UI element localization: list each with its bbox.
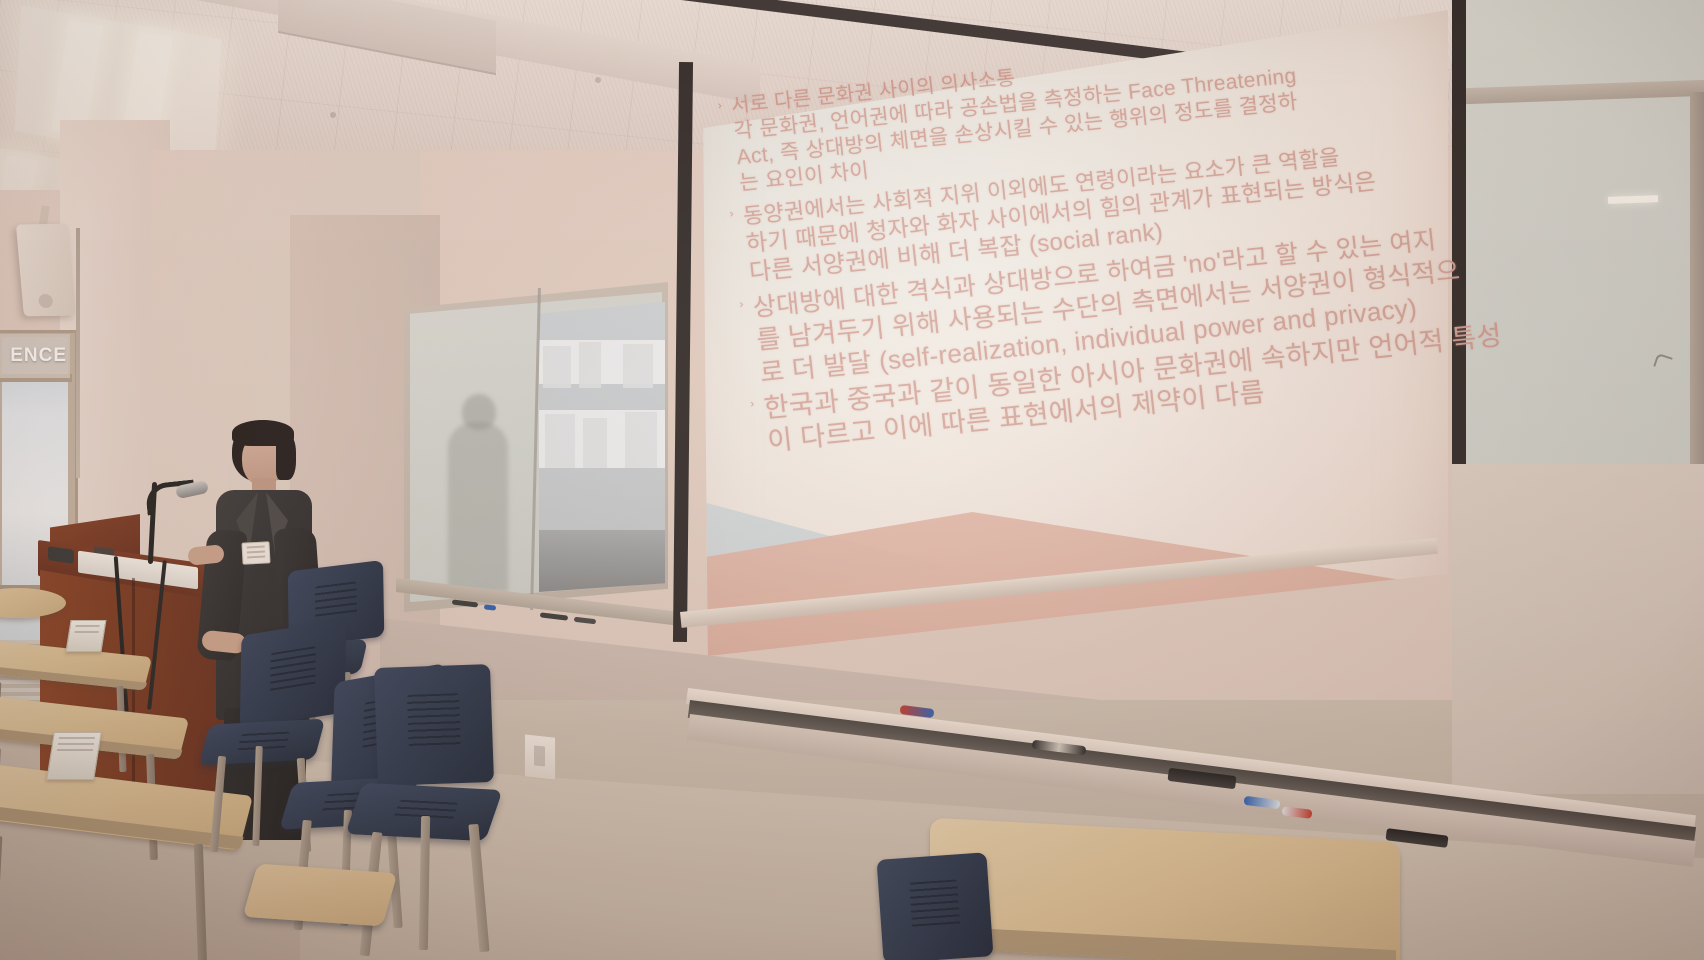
right-wall-lower [1452, 464, 1704, 794]
whiteboard-window-reflection [539, 302, 665, 592]
chair-vent-slots [237, 732, 290, 751]
chair-backrest [877, 852, 994, 960]
reflection-building [583, 418, 607, 468]
badge-text-line [247, 551, 265, 554]
wall-power-outlet[interactable] [524, 733, 556, 780]
conference-banner: ENCE [0, 334, 70, 378]
whiteboard-reflection-silhouette [448, 422, 508, 592]
bullet-marker-icon: › [717, 99, 722, 113]
name-card-holder [65, 620, 106, 652]
whiteboard-panel-right [1458, 0, 1704, 470]
outlet-slot [534, 745, 545, 766]
presenter-hair-side [276, 434, 296, 480]
sliding-whiteboard [404, 282, 668, 612]
slide-text-body: › 서로 다른 문화권 사이의 의사소통 각 문화권, 언어권에 따라 공손법을… [716, 24, 1471, 452]
name-badge [241, 541, 270, 564]
desk-top-foreground [243, 864, 398, 927]
chair-vent-slots [270, 646, 317, 694]
name-card-line [57, 749, 93, 751]
reflection-building [625, 412, 657, 468]
name-card-holder [46, 732, 102, 780]
chair-vent-slots [909, 879, 960, 928]
chair-backrest [240, 619, 346, 729]
chair-vent-slots [407, 693, 460, 747]
reflection-building [579, 342, 601, 388]
chair-backrest [374, 664, 494, 786]
reflection-foreground-shadow [539, 530, 665, 592]
reflection-building [543, 346, 571, 388]
speaker-pole [76, 228, 80, 478]
name-card-line [59, 737, 95, 739]
chair-vent-slots [315, 582, 358, 621]
reflection-building [545, 414, 575, 468]
bullet-marker-icon: › [739, 299, 744, 313]
podium-panel-seam [132, 578, 135, 814]
whiteboard-right-divider [1690, 92, 1704, 472]
bullet-marker-icon: › [750, 398, 755, 412]
reflection-building [623, 344, 653, 388]
projection-screen-assembly: › 서로 다른 문화권 사이의 의사소통 각 문화권, 언어권에 따라 공손법을… [660, 0, 1450, 726]
badge-text-line [247, 546, 265, 549]
name-card-line [75, 625, 99, 627]
name-card-line [74, 631, 98, 633]
badge-text-line [247, 556, 265, 559]
conference-room-photo: ENCE [0, 0, 1704, 960]
conference-banner-text: ENCE [10, 345, 70, 367]
screen-left-border [673, 62, 693, 642]
name-card-line [58, 743, 94, 745]
bullet-marker-icon: › [729, 208, 734, 222]
wall-speaker [16, 224, 76, 317]
